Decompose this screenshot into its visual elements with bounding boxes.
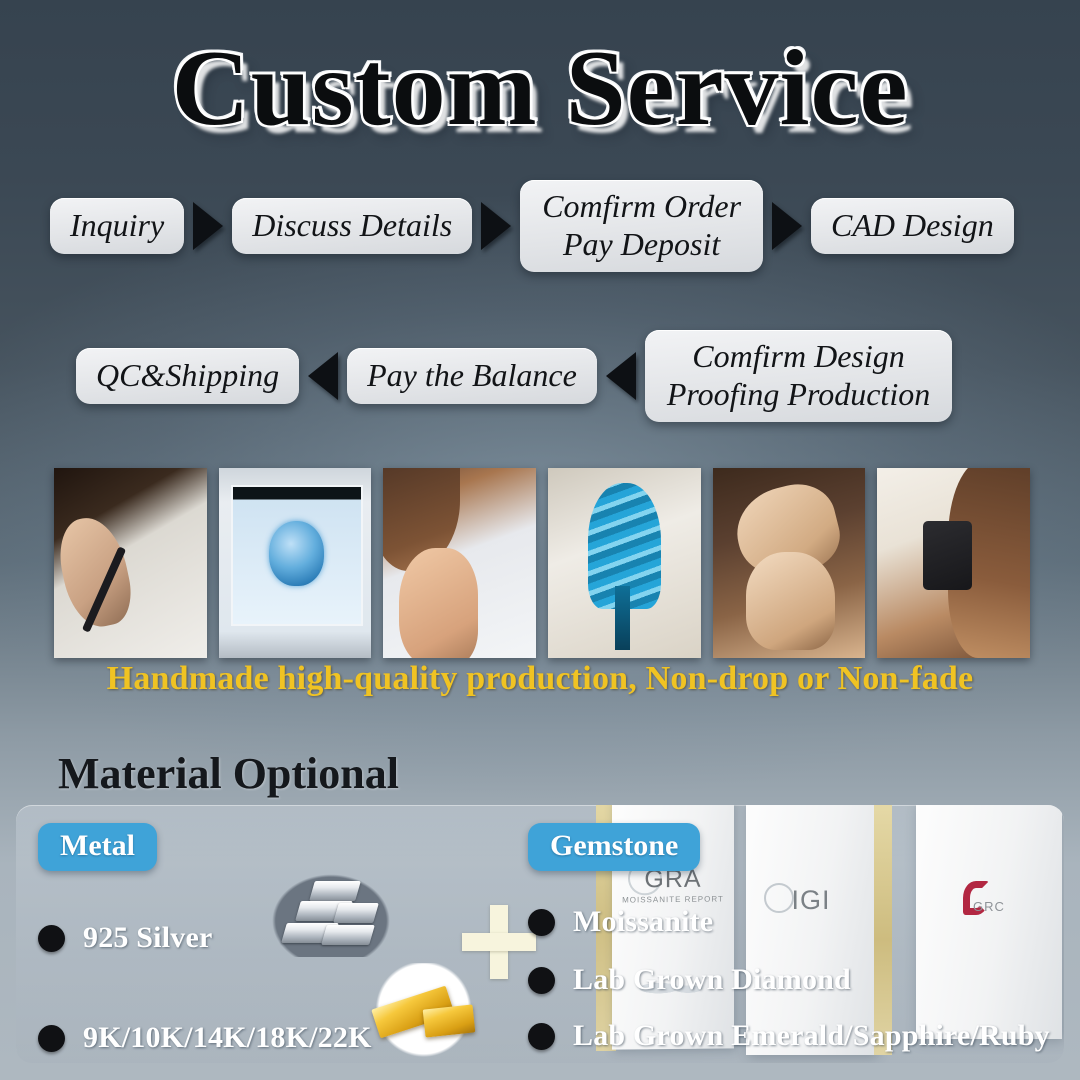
process-flow-row-1: Inquiry Discuss Details Comfirm Order Pa… [50, 180, 1030, 272]
photo-quality-check-ring-with-loupe [877, 468, 1030, 658]
photo-hand-sketching-jewelry-design [54, 468, 207, 658]
bullet-dot-icon [38, 1025, 65, 1052]
gemstone-column: Gemstone Moissanite Lab Grown Diamond La… [528, 823, 1058, 1053]
bullet-dot-icon [528, 967, 555, 994]
metal-badge[interactable]: Metal [38, 823, 157, 871]
bullet-dot-icon [528, 1023, 555, 1050]
process-photo-strip [54, 468, 1030, 658]
page-header: Custom Service [0, 34, 1080, 144]
page-title: Custom Service [172, 34, 909, 144]
gemstone-list-item-moissanite[interactable]: Moissanite [528, 905, 1058, 939]
arrow-right-icon [772, 202, 802, 250]
flow-step-confirm-design-proofing-production[interactable]: Comfirm Design Proofing Production [645, 330, 952, 422]
process-flow-row-2: QC&Shipping Pay the Balance Comfirm Desi… [76, 330, 1006, 422]
material-options-card: GRA MOISSANITE REPORT IGI GRC Metal 925 … [16, 805, 1064, 1063]
arrow-right-icon [481, 202, 511, 250]
bullet-dot-icon [38, 925, 65, 952]
gemstone-list-item-lab-grown-colored-stones[interactable]: Lab Grown Emerald/Sapphire/Ruby [528, 1019, 1058, 1053]
flow-step-pay-the-balance[interactable]: Pay the Balance [347, 348, 597, 404]
silver-bars-icon [268, 871, 394, 957]
flow-step-cad-design[interactable]: CAD Design [811, 198, 1014, 254]
flow-step-discuss-details[interactable]: Discuss Details [232, 198, 472, 254]
photo-cad-software-ring-model-on-monitor [219, 468, 372, 658]
gemstone-item-label: Moissanite [573, 905, 713, 939]
bullet-dot-icon [528, 909, 555, 936]
photo-blue-wax-casting-tree [548, 468, 701, 658]
material-section-heading: Material Optional [58, 748, 399, 799]
gemstone-badge[interactable]: Gemstone [528, 823, 700, 871]
metal-item-label: 9K/10K/14K/18K/22K [83, 1021, 372, 1055]
arrow-left-icon [308, 352, 338, 400]
plus-separator-icon [462, 905, 536, 979]
arrow-right-icon [193, 202, 223, 250]
flow-step-inquiry[interactable]: Inquiry [50, 198, 184, 254]
arrow-left-icon [606, 352, 636, 400]
flow-step-qc-shipping[interactable]: QC&Shipping [76, 348, 299, 404]
gemstone-list-item-lab-grown-diamond[interactable]: Lab Grown Diamond [528, 963, 1058, 997]
gemstone-item-label: Lab Grown Emerald/Sapphire/Ruby [573, 1019, 1050, 1053]
flow-step-confirm-order-pay-deposit[interactable]: Comfirm Order Pay Deposit [520, 180, 763, 272]
gemstone-item-label: Lab Grown Diamond [573, 963, 851, 997]
photo-hands-inspecting-jewelry-piece [383, 468, 536, 658]
metal-column: Metal 925 Silver 9K/10K/14K/18K/22K [38, 823, 508, 1055]
quality-tagline: Handmade high-quality production, Non-dr… [0, 660, 1080, 698]
metal-item-label: 925 Silver [83, 921, 213, 955]
photo-craftsman-at-jeweler-bench [713, 468, 866, 658]
